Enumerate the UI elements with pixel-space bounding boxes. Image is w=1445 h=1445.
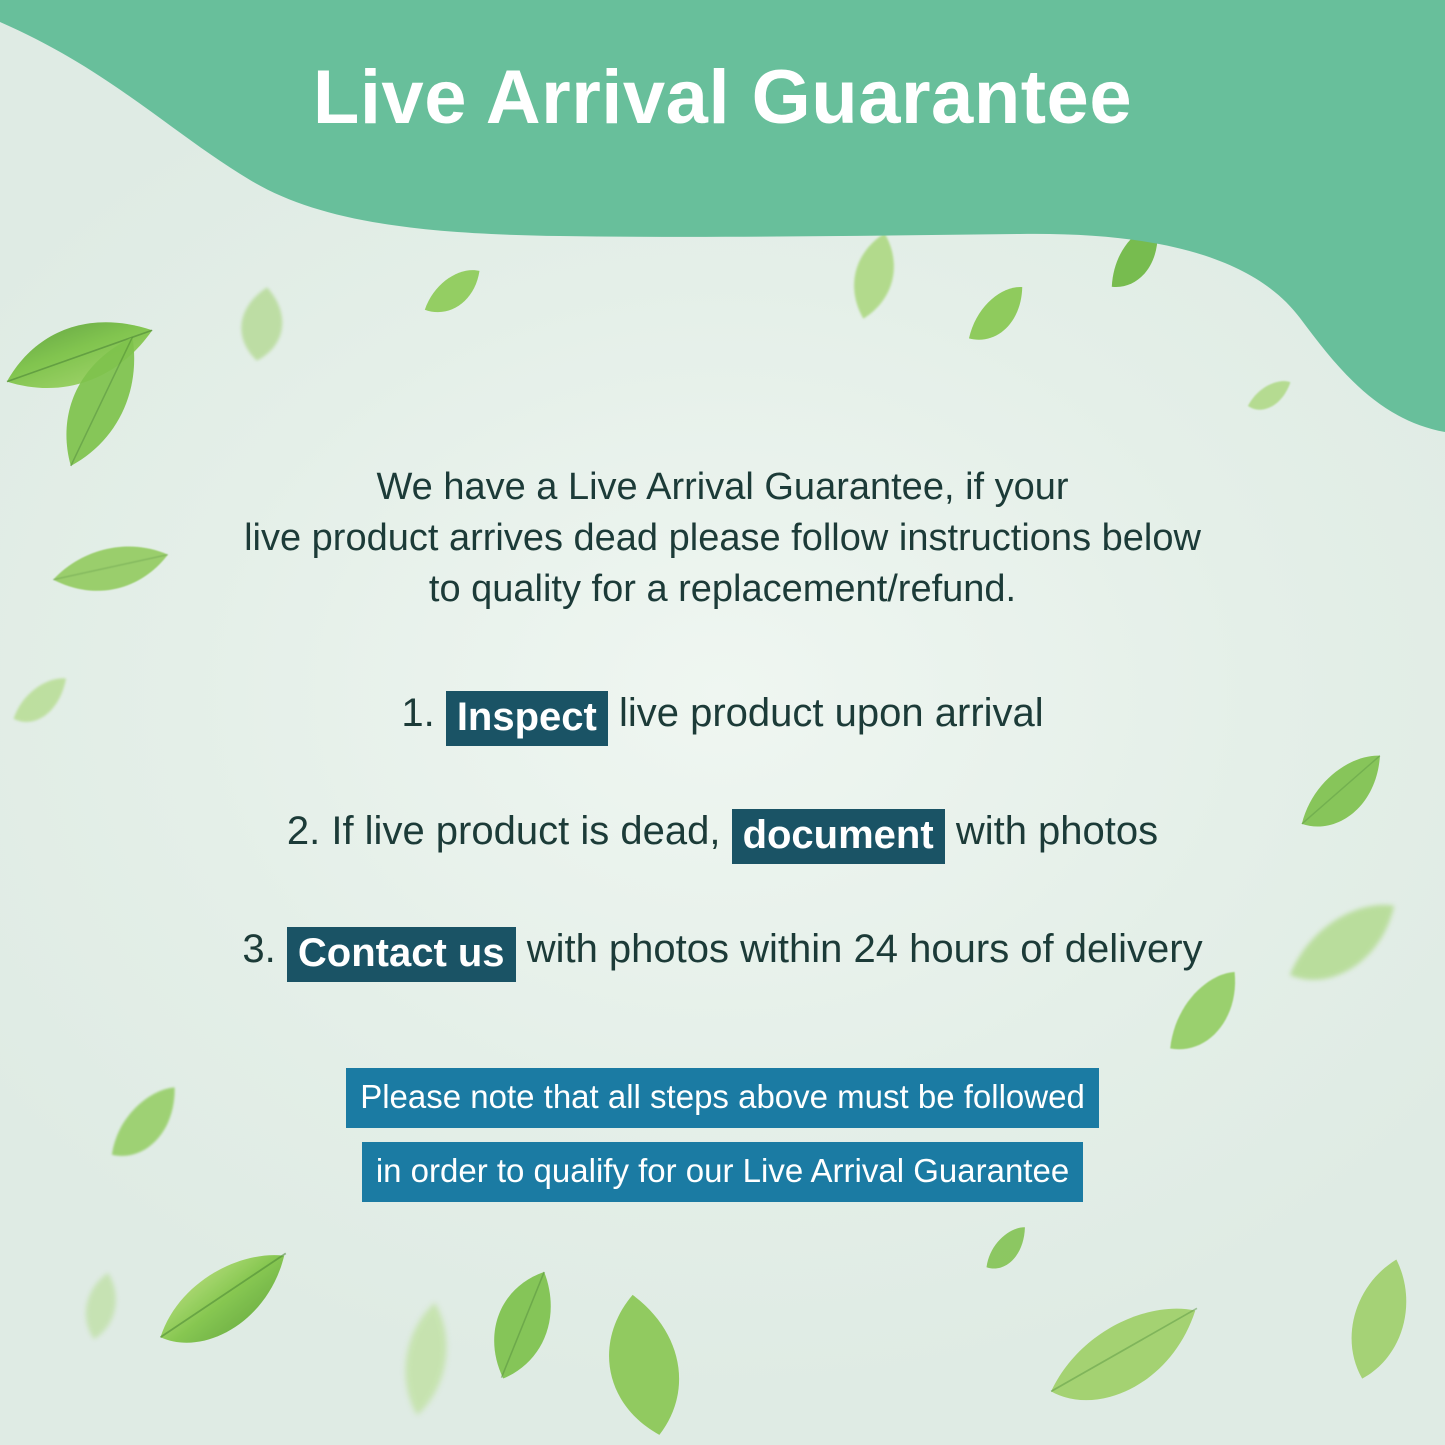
step-number-1: 1. — [401, 691, 434, 735]
intro-paragraph: We have a Live Arrival Guarantee, if you… — [0, 462, 1445, 615]
step-text-1-after: live product upon arrival — [619, 691, 1044, 735]
intro-line-3: to quality for a replacement/refund. — [0, 564, 1445, 615]
step-text-3-after: with photos within 24 hours of delivery — [527, 927, 1203, 971]
page-title: Live Arrival Guarantee — [313, 60, 1132, 136]
leaf-icon — [455, 1251, 587, 1396]
footer-note-gap — [0, 1128, 1445, 1142]
step-text-2-before: If live product is dead, — [331, 809, 720, 853]
header-title-wrap: Live Arrival Guarantee — [0, 60, 1445, 136]
intro-line-2: live product arrives dead please follow … — [0, 513, 1445, 564]
leaf-icon — [1033, 1294, 1216, 1434]
step-highlight-contact-us[interactable]: Contact us — [287, 927, 516, 982]
step-number-2: 2. — [287, 809, 320, 853]
leaf-icon — [573, 1284, 718, 1445]
leaf-icon — [73, 1266, 129, 1345]
live-arrival-guarantee-poster: Live Arrival Guarantee We have a Live Ar… — [0, 0, 1445, 1445]
leaf-icon — [140, 1240, 311, 1377]
leaf-icon — [389, 1296, 463, 1421]
step-number-3: 3. — [242, 927, 275, 971]
step-item-2: 2. If live product is dead, document wit… — [0, 803, 1445, 860]
step-item-3: 3. Contact us with photos within 24 hour… — [0, 921, 1445, 978]
leaf-icon — [1324, 1247, 1435, 1393]
footer-note-line-1: Please note that all steps above must be… — [346, 1068, 1099, 1128]
step-highlight-document[interactable]: document — [732, 809, 945, 864]
step-highlight-inspect[interactable]: Inspect — [446, 691, 608, 746]
leaf-icon — [972, 1220, 1045, 1289]
step-item-1: 1. Inspect live product upon arrival — [0, 685, 1445, 742]
steps-list: 1. Inspect live product upon arrival 2. … — [0, 685, 1445, 1039]
footer-note-line-2: in order to qualify for our Live Arrival… — [362, 1142, 1083, 1202]
intro-line-1: We have a Live Arrival Guarantee, if you… — [0, 462, 1445, 513]
footer-note: Please note that all steps above must be… — [0, 1068, 1445, 1202]
step-text-2-after: with photos — [956, 809, 1158, 853]
